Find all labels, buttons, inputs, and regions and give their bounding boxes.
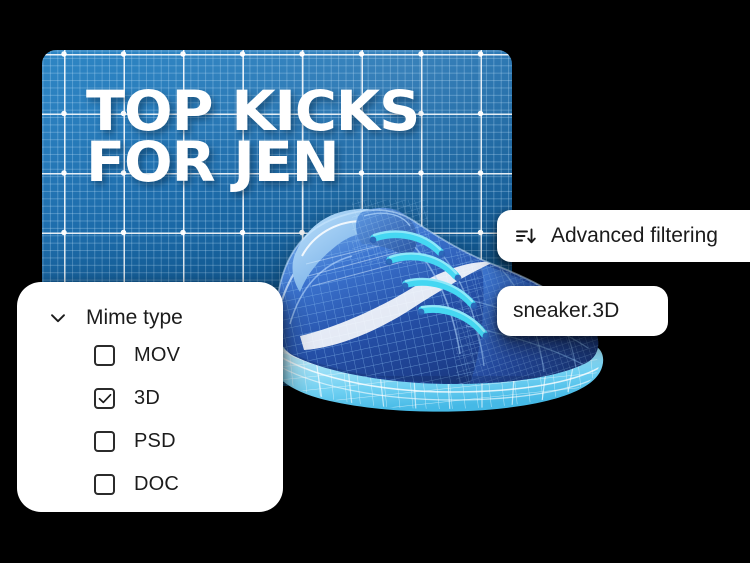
mime-option-label: MOV xyxy=(134,344,180,367)
mime-type-option-list: MOV 3D PSD DOC xyxy=(17,344,283,496)
mime-option-3d[interactable]: 3D xyxy=(94,387,283,410)
checkbox-3d[interactable] xyxy=(94,388,115,409)
mime-option-psd[interactable]: PSD xyxy=(94,430,283,453)
mime-option-doc[interactable]: DOC xyxy=(94,473,283,496)
mime-type-title: Mime type xyxy=(86,306,183,330)
file-name-chip[interactable]: sneaker.3D xyxy=(497,286,668,336)
checkbox-doc[interactable] xyxy=(94,474,115,495)
file-name-label: sneaker.3D xyxy=(513,299,619,323)
checkbox-mov[interactable] xyxy=(94,345,115,366)
mime-option-label: DOC xyxy=(134,473,179,496)
mime-type-header[interactable]: Mime type xyxy=(17,282,283,330)
advanced-filtering-label: Advanced filtering xyxy=(551,224,718,248)
check-icon xyxy=(97,391,112,406)
mime-option-mov[interactable]: MOV xyxy=(94,344,283,367)
chevron-down-icon xyxy=(48,308,68,328)
screenshot-canvas: TOP KICKS FOR JEN xyxy=(0,0,750,563)
mime-type-filter-panel: Mime type MOV 3D PSD DOC xyxy=(17,282,283,512)
mime-option-label: 3D xyxy=(134,387,160,410)
advanced-filtering-button[interactable]: Advanced filtering xyxy=(497,210,750,262)
mime-option-label: PSD xyxy=(134,430,176,453)
checkbox-psd[interactable] xyxy=(94,431,115,452)
sort-descending-icon xyxy=(515,225,537,247)
